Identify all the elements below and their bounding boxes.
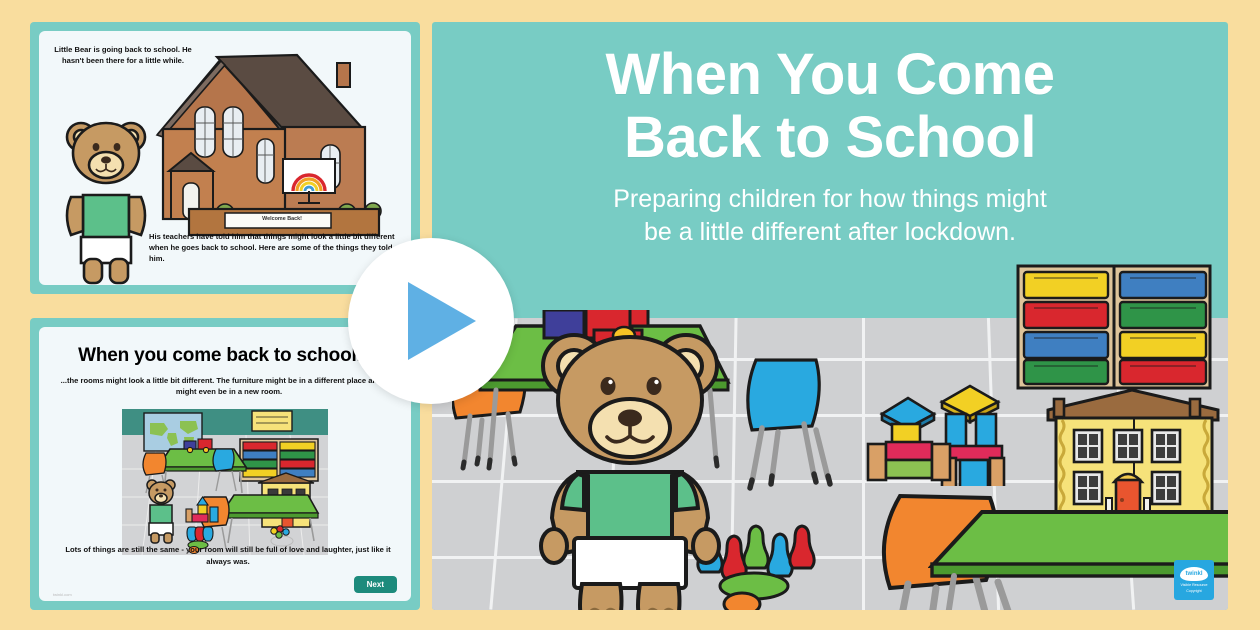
slide-2-credit: twinkl.com	[53, 592, 72, 597]
bear-illustration-thumb1	[53, 109, 163, 285]
slide-1-canvas: Welcome Back!	[39, 31, 411, 285]
watermark-line-1: Visible Resource	[1181, 583, 1208, 587]
main-subtitle-line-2: be a little different after lockdown.	[472, 216, 1188, 249]
slide-2-footer-text: Lots of things are still the same - your…	[57, 544, 399, 567]
next-button[interactable]: Next	[354, 576, 397, 593]
school-building-illustration	[151, 41, 411, 256]
slide-thumbnail-1[interactable]: Welcome Back!	[30, 22, 420, 294]
twinkl-watermark-badge: twinkl Visible Resource Copyright	[1174, 560, 1214, 600]
classroom-scene-thumb2	[122, 409, 328, 555]
watermark-line-2: Copyright	[1186, 589, 1201, 593]
main-title-line-2: Back to School	[432, 107, 1228, 170]
slide-1-top-text: Little Bear is going back to school. He …	[53, 45, 193, 67]
building-blocks-illustration	[864, 354, 1040, 486]
main-subtitle-line-1: Preparing children for how things might	[472, 183, 1188, 216]
bear-illustration-main	[526, 324, 746, 610]
welcome-back-sign-text: Welcome Back!	[229, 216, 335, 222]
play-preview-button[interactable]	[348, 238, 514, 404]
slide-1-bottom-text: His teachers have told him that things m…	[149, 231, 399, 264]
slide-2-canvas: When you come back to school... ...the r…	[39, 327, 411, 601]
watermark-cloud-icon: twinkl	[1180, 567, 1208, 581]
slide-2-subtitle: ...the rooms might look a little bit dif…	[57, 375, 401, 398]
play-triangle-icon	[408, 282, 476, 360]
main-slide-preview[interactable]: When You Come Back to School Preparing c…	[432, 22, 1228, 610]
title-block: When You Come Back to School Preparing c…	[432, 44, 1228, 248]
main-title-line-1: When You Come	[432, 44, 1228, 107]
